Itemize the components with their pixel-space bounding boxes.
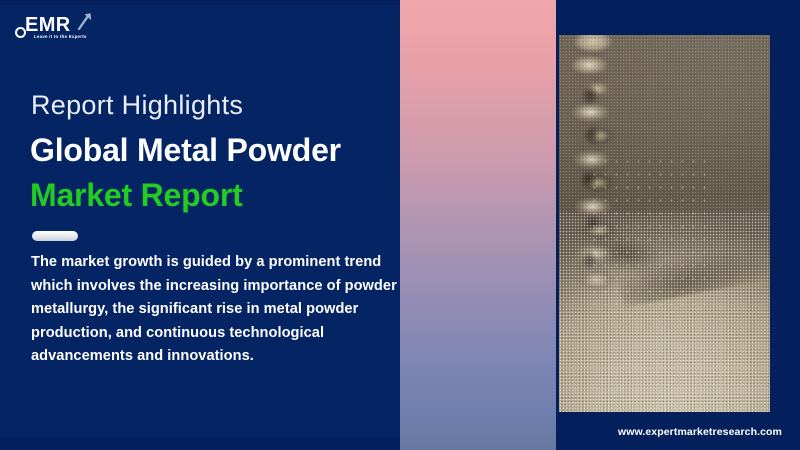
- growth-arrow-icon: [77, 12, 93, 30]
- metal-powder-photo: [559, 35, 770, 412]
- photo-grain-texture-pile: [559, 212, 770, 412]
- title-divider-bar: [32, 231, 78, 241]
- emr-logo-tagline: Leave it to the Experts: [34, 34, 87, 39]
- report-highlights-slide: EMR Leave it to the Experts Report Highl…: [0, 0, 800, 450]
- navy-background-plate: [0, 5, 400, 437]
- gradient-accent-band: [400, 0, 556, 450]
- emr-logo-text: EMR: [25, 15, 71, 35]
- page-title-line1: Global Metal Powder: [30, 131, 341, 169]
- body-paragraph: The market growth is guided by a promine…: [31, 251, 403, 369]
- emr-logo[interactable]: EMR Leave it to the Experts: [15, 10, 125, 42]
- footer-website-url[interactable]: www.expertmarketresearch.com: [618, 426, 782, 438]
- page-eyebrow: Report Highlights: [31, 90, 243, 120]
- page-title-line2: Market Report: [30, 176, 243, 214]
